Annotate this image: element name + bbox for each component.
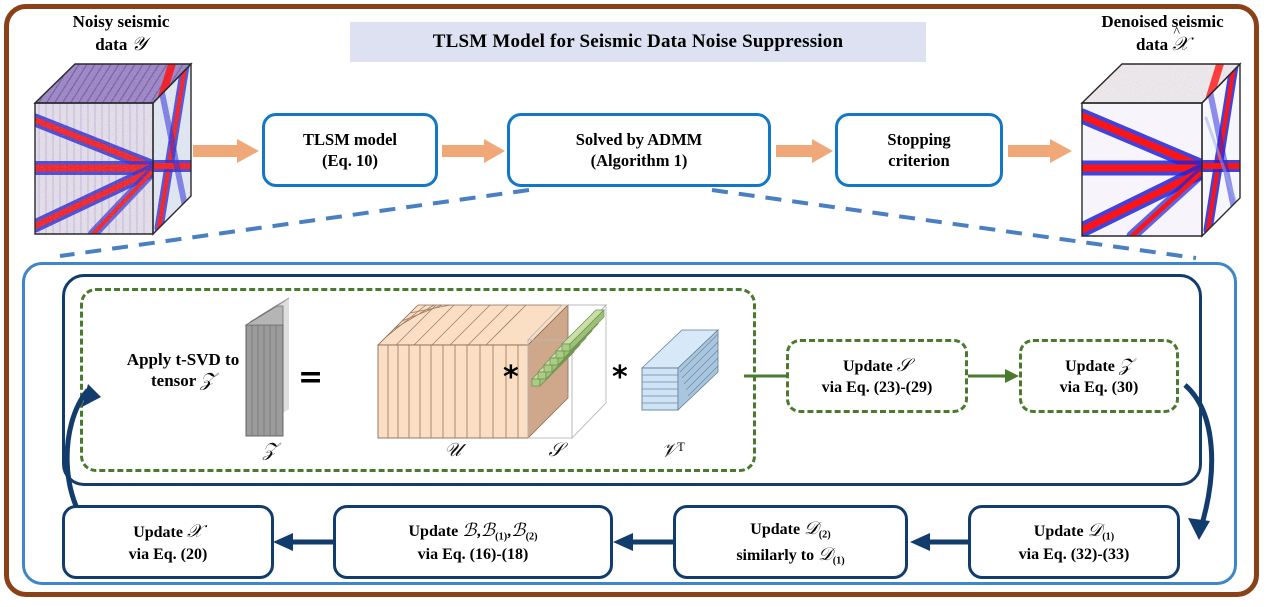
flowbox-stopping-criterion[interactable]: Stoppingcriterion [835,113,1003,187]
flowbox-solved-by-admm[interactable]: Solved by ADMM(Algorithm 1) [507,113,771,187]
navybox-update-X-text: Update 𝒳 via Eq. (20) [129,519,208,565]
navybox-update-B-text: Update ℬ,ℬ(1),ℬ(2) via Eq. (16)-(18) [408,518,537,566]
tsvd-caption: Apply t-SVD to tensor 𝒵 [93,350,273,392]
input-cube-caption: Noisy seismic data 𝒴 [38,12,204,56]
output-cube-caption-line2: data [1136,35,1172,54]
input-cube-symbol: 𝒴 [132,34,147,55]
tensor-label-S: 𝒮 [541,440,571,462]
tensor-label-VT: 𝒱T [652,440,694,463]
denoised-seismic-cube [1080,58,1242,240]
noisy-seismic-cube [33,58,193,238]
greenbox-update-S[interactable]: Update 𝒮 via Eq. (23)-(29) [786,339,968,413]
input-cube-caption-line2: data [95,35,131,54]
star-operator-1b: * [612,360,628,395]
tsvd-caption-symbol: 𝒵 [200,370,215,391]
tensor-label-Z: 𝒵 [255,440,285,462]
equals-operator: = [298,360,323,395]
navybox-update-D2-text: Update 𝒟(2) similarly to 𝒟(1) [736,516,844,568]
greenbox-update-Z-text: Update 𝒵 via Eq. (30) [1060,354,1139,399]
navybox-update-B[interactable]: Update ℬ,ℬ(1),ℬ(2) via Eq. (16)-(18) [333,505,613,579]
input-cube-caption-line1: Noisy seismic [73,12,170,31]
navybox-update-X[interactable]: Update 𝒳 via Eq. (20) [62,505,274,579]
flowbox-stopping-criterion-text: Stoppingcriterion [887,129,950,172]
output-cube-caption-line1: Denoised seismic [1101,12,1223,31]
hat-accent: ^ [1173,24,1180,41]
figure-canvas: TLSM Model for Seismic Data Noise Suppre… [0,0,1269,607]
tensor-label-U: 𝒰 [438,440,468,462]
title-banner-text: TLSM Model for Seismic Data Noise Suppre… [433,31,844,53]
navybox-update-D1-text: Update 𝒟(1) via Eq. (32)-(33) [1019,518,1130,566]
output-cube-caption: Denoised seismic data ^ 𝒳 [1070,12,1255,56]
flowbox-tlsm-model-text: TLSM model(Eq. 10) [303,129,397,172]
navybox-update-D2[interactable]: Update 𝒟(2) similarly to 𝒟(1) [673,505,908,579]
title-banner: TLSM Model for Seismic Data Noise Suppre… [350,22,926,62]
star-operator-1: * [503,360,519,395]
flowbox-solved-by-admm-text: Solved by ADMM(Algorithm 1) [576,129,703,172]
greenbox-update-S-text: Update 𝒮 via Eq. (23)-(29) [822,354,933,399]
navybox-update-D1[interactable]: Update 𝒟(1) via Eq. (32)-(33) [968,505,1180,579]
flowbox-tlsm-model[interactable]: TLSM model(Eq. 10) [262,113,438,187]
greenbox-update-Z[interactable]: Update 𝒵 via Eq. (30) [1019,339,1179,413]
